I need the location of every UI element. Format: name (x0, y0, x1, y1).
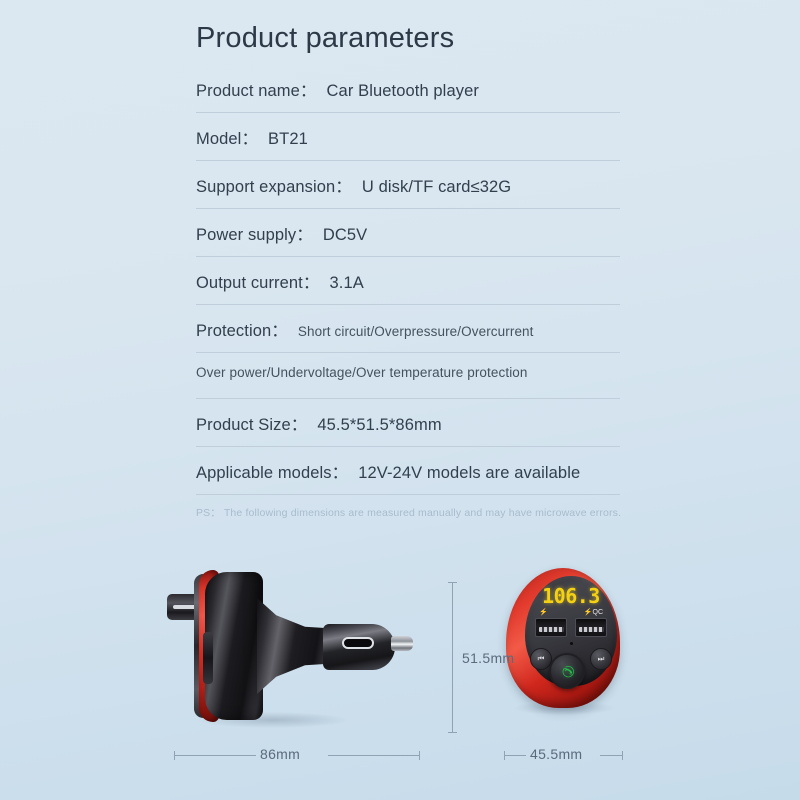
spec-label: Model： (196, 125, 258, 149)
spec-label: Output current： (196, 269, 319, 293)
spec-value: 45.5*51.5*86mm (317, 416, 441, 435)
spec-row-product-name: Product name： Car Bluetooth player (196, 77, 620, 113)
height-dimension-cap-top (448, 582, 457, 583)
call-answer-button[interactable]: ✆ (549, 653, 585, 689)
width-dimension-label: 86mm (260, 746, 300, 762)
spec-row-model: Model： BT21 (196, 125, 620, 161)
page-title: Product parameters (196, 22, 620, 55)
front-width-dimension-line-right (600, 755, 622, 756)
side-view-head (205, 572, 263, 720)
width-dimension-line-right (328, 755, 419, 756)
height-dimension-line (452, 582, 453, 732)
next-track-button[interactable]: ⏭ (590, 648, 612, 670)
spec-label: Applicable models： (196, 459, 348, 483)
spec-label: Over power/Undervoltage/Over temperature… (196, 365, 528, 380)
front-width-dimension-cap-right (622, 751, 623, 760)
measurement-note: PS： The following dimensions are measure… (196, 505, 620, 520)
spec-value: Short circuit/Overpressure/Overcurrent (298, 324, 534, 339)
height-dimension-cap-bottom (448, 732, 457, 733)
phone-handset-icon: ✆ (559, 664, 576, 679)
fm-frequency-display: 106.3 (537, 583, 605, 609)
front-view-red-shell: 106.3 ⚡ ⚡QC ⏮ ⏭ ✆ (506, 568, 620, 708)
display-status-icons: ⚡ ⚡QC (539, 608, 603, 617)
spec-value: BT21 (268, 130, 308, 149)
quick-charge-icon: ⚡QC (584, 609, 603, 616)
spec-row-power-supply: Power supply： DC5V (196, 221, 620, 257)
spec-label: Protection： (196, 317, 288, 341)
spec-row-protection: Protection： Short circuit/Overpressure/O… (196, 317, 620, 353)
spec-row-protection-continued: Over power/Undervoltage/Over temperature… (196, 365, 620, 399)
spec-row-product-size: Product Size： 45.5*51.5*86mm (196, 411, 620, 447)
spec-label: Power supply： (196, 221, 313, 245)
side-view-side-button (203, 632, 213, 684)
product-image-zone: 106.3 ⚡ ⚡QC ⏮ ⏭ ✆ (0, 560, 800, 800)
spec-value: DC5V (323, 226, 367, 245)
spec-value: Car Bluetooth player (327, 82, 479, 101)
spec-row-output-current: Output current： 3.1A (196, 269, 620, 305)
plug-contact-tip-icon (391, 636, 413, 651)
usb-port-left-icon (535, 618, 567, 637)
front-width-dimension-label: 45.5mm (530, 746, 582, 762)
spec-label: Product Size： (196, 411, 307, 435)
spec-value: 3.1A (329, 274, 363, 293)
lightning-bolt-icon: ⚡ (539, 609, 548, 616)
side-view-product-image (150, 570, 420, 730)
usb-port-row (535, 618, 607, 637)
spec-label: Support expansion： (196, 173, 352, 197)
front-width-dimension-line-left (504, 755, 526, 756)
usb-port-icon (342, 637, 374, 649)
usb-port-right-icon (575, 618, 607, 637)
spec-row-support-expansion: Support expansion： U disk/TF card≤32G (196, 173, 620, 209)
width-dimension-cap-right (419, 751, 420, 760)
spec-value: U disk/TF card≤32G (362, 178, 511, 197)
spec-value: 12V-24V models are available (358, 464, 580, 483)
microphone-icon (570, 642, 573, 645)
height-dimension-label: 51.5mm (462, 650, 514, 666)
front-view-product-image: 106.3 ⚡ ⚡QC ⏮ ⏭ ✆ (498, 568, 628, 728)
side-view-body (205, 570, 380, 722)
spec-row-applicable-models: Applicable models： 12V-24V models are av… (196, 459, 620, 495)
spec-label: Product name： (196, 77, 317, 101)
width-dimension-line-left (174, 755, 256, 756)
fm-frequency-value: 106.3 (542, 586, 600, 606)
product-parameters-panel: Product parameters Product name： Car Blu… (196, 22, 620, 520)
